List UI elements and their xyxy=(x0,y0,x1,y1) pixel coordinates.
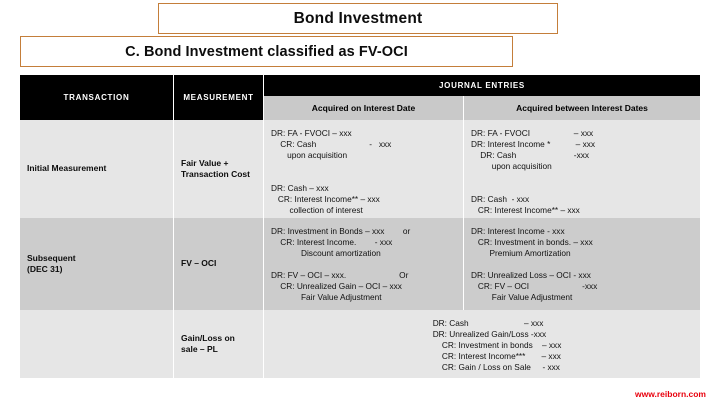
cell-measurement: Fair Value + Transaction Cost xyxy=(174,120,264,218)
measurement-label: Gain/Loss on sale – PL xyxy=(181,333,235,356)
cell-measurement: Gain/Loss on sale – PL xyxy=(174,310,264,378)
journal-entries-table: TRANSACTION MEASUREMENT JOURNAL ENTRIES … xyxy=(20,75,700,378)
slide-title: Bond Investment xyxy=(294,10,423,28)
slide-root: Bond Investment C. Bond Investment class… xyxy=(0,0,720,405)
slide-title-box: Bond Investment xyxy=(158,3,558,34)
table-row: Gain/Loss on sale – PL DR: Cash – xxx DR… xyxy=(20,310,700,378)
column-header-acquired-between-interest-dates: Acquired between Interest Dates xyxy=(464,96,700,120)
journal-entry-text: DR: FA - FVOCI – xxx DR: Interest Income… xyxy=(471,120,595,227)
watermark-url: www.reiborn.com xyxy=(635,389,706,399)
transaction-label: Initial Measurement xyxy=(27,163,106,174)
slide-subtitle-box: C. Bond Investment classified as FV-OCI xyxy=(20,36,513,67)
cell-journal-entry-acquired-on: DR: FA - FVOCI – xxx CR: Cash - xxx upon… xyxy=(264,120,464,218)
cell-measurement: FV – OCI xyxy=(174,218,264,310)
cell-journal-entry-sale: DR: Cash – xxx DR: Unrealized Gain/Loss … xyxy=(264,310,700,378)
table-row: Subsequent (DEC 31) FV – OCI DR: Investm… xyxy=(20,218,700,310)
column-header-measurement: MEASUREMENT xyxy=(174,75,264,120)
cell-transaction: Initial Measurement xyxy=(20,120,174,218)
measurement-label: FV – OCI xyxy=(181,258,216,269)
column-header-acquired-on-interest-date: Acquired on Interest Date xyxy=(264,96,464,120)
measurement-label: Fair Value + Transaction Cost xyxy=(181,158,250,181)
cell-journal-entry-acquired-between: DR: Interest Income - xxx CR: Investment… xyxy=(464,218,700,310)
journal-entry-text: DR: Interest Income - xxx CR: Investment… xyxy=(471,218,597,303)
table-row: Initial Measurement Fair Value + Transac… xyxy=(20,120,700,218)
cell-transaction: Subsequent (DEC 31) xyxy=(20,218,174,310)
cell-journal-entry-acquired-between: DR: FA - FVOCI – xxx DR: Interest Income… xyxy=(464,120,700,218)
journal-entry-text: DR: FA - FVOCI – xxx CR: Cash - xxx upon… xyxy=(271,120,391,216)
journal-entry-text: DR: Cash – xxx DR: Unrealized Gain/Loss … xyxy=(410,310,562,373)
cell-transaction xyxy=(20,310,174,378)
slide-subtitle: C. Bond Investment classified as FV-OCI xyxy=(125,44,408,60)
cell-journal-entry-acquired-on: DR: Investment in Bonds – xxx or CR: Int… xyxy=(264,218,464,310)
column-header-transaction: TRANSACTION xyxy=(20,75,174,120)
journal-entry-text: DR: Investment in Bonds – xxx or CR: Int… xyxy=(271,218,410,303)
transaction-label: Subsequent (DEC 31) xyxy=(27,253,76,276)
column-header-journal-entries: JOURNAL ENTRIES xyxy=(264,75,700,96)
